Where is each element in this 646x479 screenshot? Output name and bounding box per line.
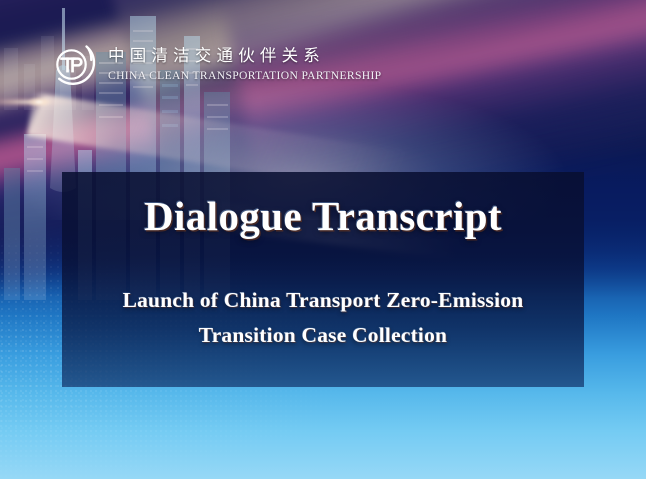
page-title: Dialogue Transcript <box>144 194 502 239</box>
page-subtitle-line-1: Launch of China Transport Zero-Emission <box>123 283 524 318</box>
tp-monogram-circle-icon <box>47 38 99 90</box>
lens-flare-core <box>26 96 52 108</box>
presentation-slide: 中国清洁交通伙伴关系 CHINA CLEAN TRANSPORTATION PA… <box>0 0 646 479</box>
brand-name-chinese: 中国清洁交通伙伴关系 <box>108 46 381 67</box>
brand-name-english: CHINA CLEAN TRANSPORTATION PARTNERSHIP <box>108 69 381 83</box>
page-subtitle-line-2: Transition Case Collection <box>123 318 524 353</box>
brand-logo-lockup: 中国清洁交通伙伴关系 CHINA CLEAN TRANSPORTATION PA… <box>47 38 377 90</box>
brand-name-block: 中国清洁交通伙伴关系 CHINA CLEAN TRANSPORTATION PA… <box>108 45 381 83</box>
page-subtitle: Launch of China Transport Zero-Emission … <box>123 283 524 353</box>
title-panel: Dialogue Transcript Launch of China Tran… <box>62 172 584 387</box>
